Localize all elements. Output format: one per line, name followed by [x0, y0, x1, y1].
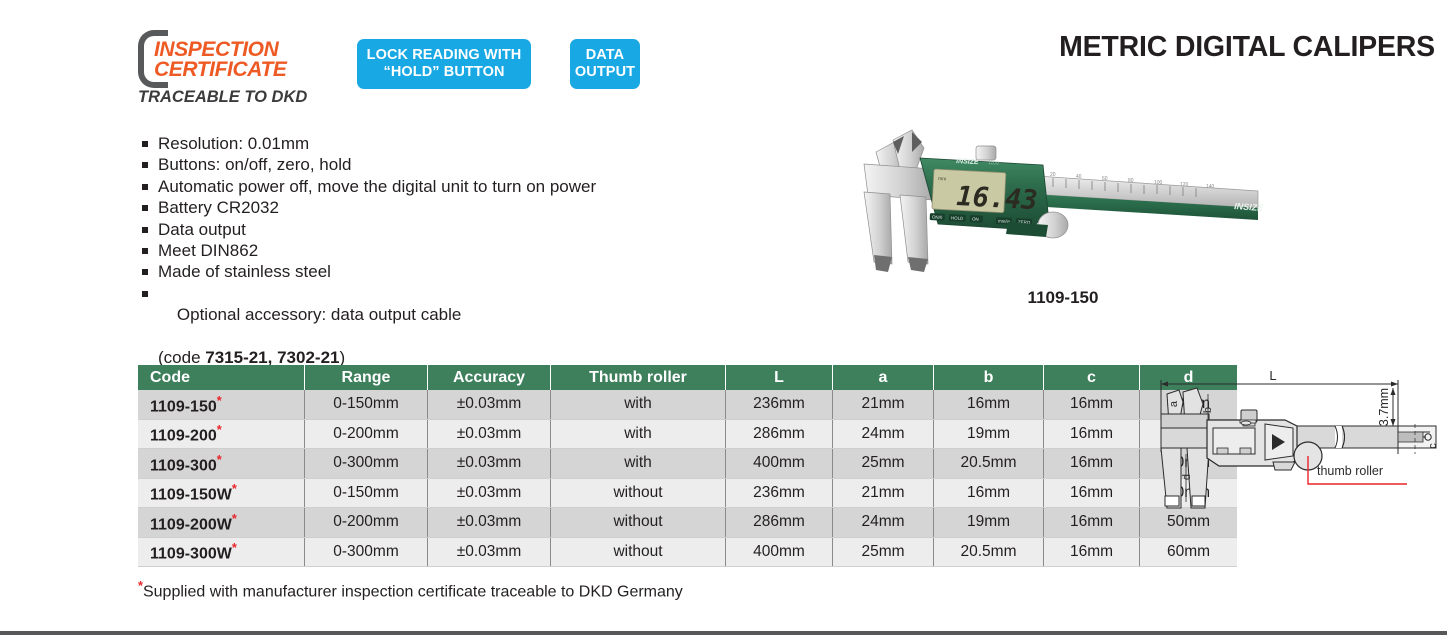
cell-code: 1109-300* — [138, 449, 305, 479]
cell-c: 16mm — [1044, 390, 1140, 419]
asterisk-marker: * — [217, 452, 222, 467]
feature-text: Resolution: 0.01mm — [158, 134, 309, 153]
cell-L: 286mm — [726, 419, 833, 449]
svg-text:80: 80 — [1128, 178, 1134, 184]
cell-range: 0-150mm — [305, 478, 428, 508]
table-row: 1109-300* 0-300mm ±0.03mm with 400mm 25m… — [138, 449, 1237, 479]
cell-c: 16mm — [1044, 419, 1140, 449]
table-header-row: Code Range Accuracy Thumb roller L a b c… — [138, 365, 1237, 390]
cell-accuracy: ±0.03mm — [428, 449, 551, 479]
data-output-badge: DATA OUTPUT — [570, 39, 640, 89]
footnote: *Supplied with manufacturer inspection c… — [138, 578, 683, 601]
cell-accuracy: ±0.03mm — [428, 508, 551, 538]
feature-text: Automatic power off, move the digital un… — [158, 177, 596, 196]
cell-L: 400mm — [726, 537, 833, 567]
feature-text: Data output — [158, 220, 246, 239]
cell-code: 1109-300W* — [138, 537, 305, 567]
thumb-roller-callout-label: thumb roller — [1317, 464, 1383, 478]
cell-L: 236mm — [726, 390, 833, 419]
svg-text:mm: mm — [938, 176, 947, 182]
table-row: 1109-150* 0-150mm ±0.03mm with 236mm 21m… — [138, 390, 1237, 419]
list-item: Resolution: 0.01mm — [140, 133, 596, 154]
cell-a: 24mm — [833, 508, 934, 538]
cell-code: 1109-200W* — [138, 508, 305, 538]
column-header-thumb-roller: Thumb roller — [551, 365, 726, 390]
certificate-line-2: CERTIFICATE — [154, 60, 287, 80]
svg-text:100: 100 — [1154, 180, 1163, 186]
code-text: 1109-150 — [150, 398, 217, 415]
dimension-label-thickness: 3.7mm — [1377, 388, 1391, 426]
certificate-line-1: INSPECTION — [154, 40, 287, 60]
table-row: 1109-200W* 0-200mm ±0.03mm without 286mm… — [138, 508, 1237, 538]
cell-a: 24mm — [833, 419, 934, 449]
code-text: 1109-200 — [150, 427, 217, 444]
svg-text:40: 40 — [1076, 174, 1082, 180]
cell-range: 0-200mm — [305, 508, 428, 538]
asterisk-marker: * — [217, 422, 222, 437]
feature-text: Meet DIN862 — [158, 241, 258, 260]
cell-b: 20.5mm — [934, 537, 1044, 567]
cell-thumb: without — [551, 478, 726, 508]
cell-a: 21mm — [833, 390, 934, 419]
dimension-label-a: a — [1168, 400, 1180, 407]
cell-code: 1109-200* — [138, 419, 305, 449]
cell-L: 400mm — [726, 449, 833, 479]
asterisk-marker: * — [232, 511, 237, 526]
cell-b: 16mm — [934, 390, 1044, 419]
footnote-text: Supplied with manufacturer inspection ce… — [143, 583, 683, 600]
column-header-c: c — [1044, 365, 1140, 390]
product-photo-caliper: 2040 6080 100120 140 INSIZE 16.43 mm INS… — [838, 112, 1288, 287]
svg-text:INSIZE: INSIZE — [956, 158, 979, 166]
column-header-L: L — [726, 365, 833, 390]
cell-thumb: with — [551, 449, 726, 479]
feature-text: Buttons: on/off, zero, hold — [158, 155, 351, 174]
asterisk-marker: * — [232, 481, 237, 496]
svg-text:1109: 1109 — [988, 160, 999, 167]
cell-accuracy: ±0.03mm — [428, 478, 551, 508]
column-header-accuracy: Accuracy — [428, 365, 551, 390]
lock-reading-badge: LOCK READING WITH “HOLD” BUTTON — [357, 39, 531, 89]
list-item: Battery CR2032 — [140, 197, 596, 218]
svg-text:ON: ON — [972, 216, 979, 221]
svg-text:HOLD: HOLD — [951, 215, 963, 221]
cell-range: 0-300mm — [305, 537, 428, 567]
cell-b: 20.5mm — [934, 449, 1044, 479]
code-text: 1109-300W — [150, 545, 232, 562]
dimension-label-L: L — [1269, 368, 1276, 383]
cell-a: 25mm — [833, 449, 934, 479]
asterisk-marker: * — [232, 540, 237, 555]
cell-accuracy: ±0.03mm — [428, 537, 551, 567]
cell-accuracy: ±0.03mm — [428, 419, 551, 449]
cell-c: 16mm — [1044, 537, 1140, 567]
table-row: 1109-150W* 0-150mm ±0.03mm without 236mm… — [138, 478, 1237, 508]
dimension-label-c: c — [1427, 443, 1439, 449]
cell-a: 25mm — [833, 537, 934, 567]
lock-reading-badge-line-2: “HOLD” BUTTON — [383, 64, 504, 81]
lock-reading-badge-line-1: LOCK READING WITH — [367, 47, 522, 64]
svg-text:INSIZE: INSIZE — [1234, 201, 1265, 213]
cell-range: 0-150mm — [305, 390, 428, 419]
list-item: Data output — [140, 219, 596, 240]
svg-text:20: 20 — [1050, 172, 1056, 178]
svg-text:ON/0: ON/0 — [932, 214, 943, 220]
cell-L: 236mm — [726, 478, 833, 508]
feature-text: Made of stainless steel — [158, 262, 331, 281]
specification-table: Code Range Accuracy Thumb roller L a b c… — [138, 365, 1237, 567]
list-item: Meet DIN862 — [140, 240, 596, 261]
cell-b: 19mm — [934, 419, 1044, 449]
column-header-range: Range — [305, 365, 428, 390]
column-header-a: a — [833, 365, 934, 390]
svg-text:60: 60 — [1102, 176, 1108, 182]
caliper-dimension-drawing: L a b d — [1145, 362, 1441, 542]
list-item: Buttons: on/off, zero, hold — [140, 154, 596, 175]
column-header-b: b — [934, 365, 1044, 390]
cell-L: 286mm — [726, 508, 833, 538]
asterisk-marker: * — [217, 393, 222, 408]
data-output-badge-line-2: OUTPUT — [575, 64, 635, 81]
data-output-badge-line-1: DATA — [586, 47, 625, 64]
list-item: Made of stainless steel — [140, 261, 596, 282]
table-row: 1109-200* 0-200mm ±0.03mm with 286mm 24m… — [138, 419, 1237, 449]
cell-b: 19mm — [934, 508, 1044, 538]
svg-text:140: 140 — [1206, 184, 1215, 190]
inspection-certificate-logo: INSPECTION CERTIFICATE TRACEABLE TO DKD — [138, 30, 338, 102]
cell-c: 16mm — [1044, 508, 1140, 538]
cell-thumb: with — [551, 390, 726, 419]
cell-accuracy: ±0.03mm — [428, 390, 551, 419]
bottom-divider-bar — [0, 631, 1447, 635]
cell-range: 0-300mm — [305, 449, 428, 479]
cell-thumb: without — [551, 508, 726, 538]
cell-thumb: with — [551, 419, 726, 449]
cell-c: 16mm — [1044, 449, 1140, 479]
column-header-code: Code — [138, 365, 305, 390]
code-text: 1109-200W — [150, 516, 232, 533]
svg-text:120: 120 — [1180, 182, 1189, 188]
cell-c: 16mm — [1044, 478, 1140, 508]
technical-drawing-caliper: L a b d — [1145, 362, 1441, 542]
feature-text: Battery CR2032 — [158, 198, 279, 217]
cell-code: 1109-150* — [138, 390, 305, 419]
lcd-reading: 16.43 — [956, 181, 1039, 216]
page-title: METRIC DIGITAL CALIPERS — [1059, 31, 1435, 64]
table-row: 1109-300W* 0-300mm ±0.03mm without 400mm… — [138, 537, 1237, 567]
cell-b: 16mm — [934, 478, 1044, 508]
cell-code: 1109-150W* — [138, 478, 305, 508]
cell-thumb: without — [551, 537, 726, 567]
list-item: Automatic power off, move the digital un… — [140, 176, 596, 197]
code-text: 1109-150W — [150, 486, 232, 503]
cell-a: 21mm — [833, 478, 934, 508]
code-text: 1109-300 — [150, 457, 217, 474]
feature-text: Optional accessory: data output cable — [177, 305, 461, 324]
dimension-label-d: d — [1181, 474, 1193, 480]
certificate-wordmark: INSPECTION CERTIFICATE — [154, 40, 287, 79]
certificate-traceable-text: TRACEABLE TO DKD — [138, 88, 307, 107]
cell-range: 0-200mm — [305, 419, 428, 449]
product-caption: 1109-150 — [838, 288, 1288, 308]
caliper-photo-svg: 2040 6080 100120 140 INSIZE 16.43 mm INS… — [838, 112, 1288, 287]
